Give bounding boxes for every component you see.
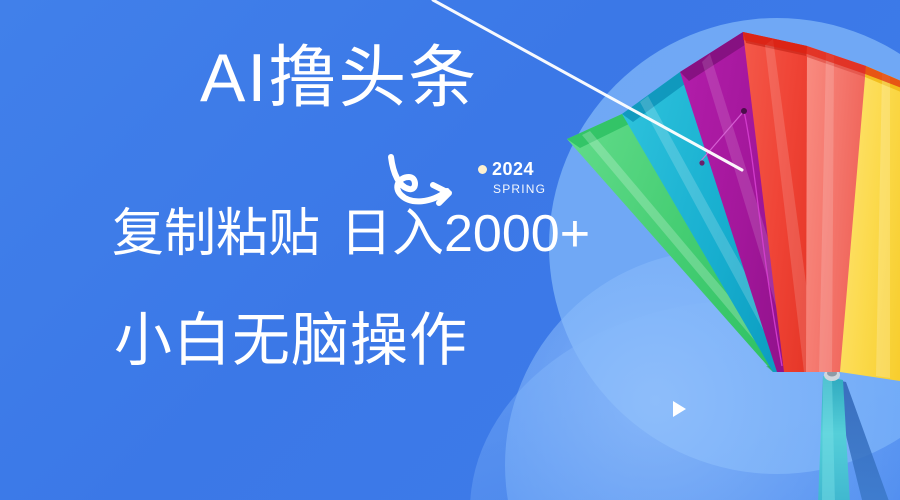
badge-season: SPRING xyxy=(493,183,546,195)
play-triangle-icon xyxy=(673,401,686,417)
badge-dot-icon xyxy=(478,165,487,174)
page-title: AI撸头条 xyxy=(200,44,478,112)
tagline: 小白无脑操作 xyxy=(114,312,468,370)
season-badge: 2024 SPRING xyxy=(478,160,546,195)
subline-left: 复制粘贴 xyxy=(112,205,320,263)
subline-right: 日入2000+ xyxy=(340,205,590,263)
badge-year: 2024 xyxy=(492,160,534,178)
poster-canvas: AI撸头条 2024 SPRING 复制粘贴日入2000+ 小白无脑操作 xyxy=(0,0,900,500)
subline: 复制粘贴日入2000+ xyxy=(112,208,590,260)
